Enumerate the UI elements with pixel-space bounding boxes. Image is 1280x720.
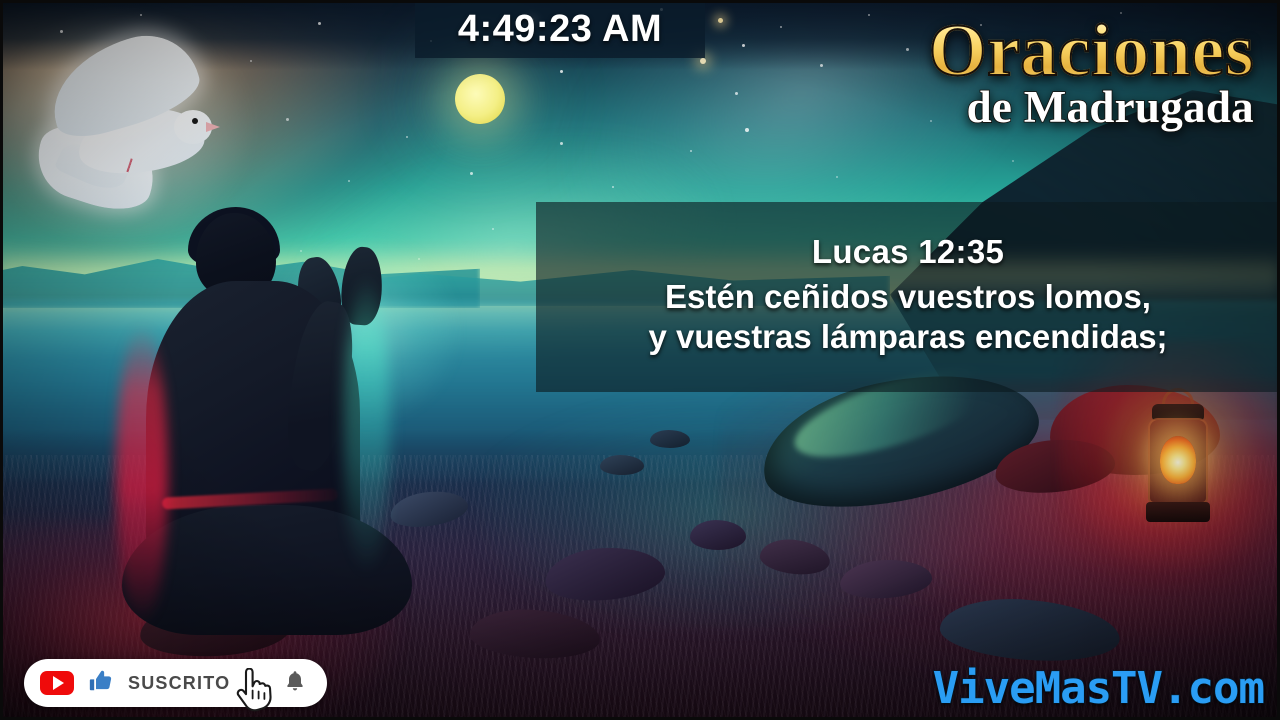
scripture-line-1: Estén ceñidos vuestros lomos, [665, 277, 1151, 317]
bell-icon[interactable] [283, 669, 307, 698]
boulder-tiny-b [600, 455, 644, 475]
lantern-icon [1128, 398, 1228, 538]
clock-time: 4:49:23 AM [458, 8, 662, 51]
moon-icon [455, 74, 505, 124]
boulder-small-b [690, 520, 746, 550]
thumbs-up-icon[interactable] [88, 668, 114, 699]
figure-teal-rimlight [344, 275, 390, 575]
channel-subtitle: de Madrugada [929, 81, 1254, 133]
video-frame: 4:49:23 AM Oraciones de Madrugada Lucas … [0, 0, 1280, 720]
boulder-tiny-a [650, 430, 690, 448]
hand-pointer-cursor [232, 668, 276, 716]
scripture-reference: Lucas 12:35 [812, 233, 1004, 271]
dove-beak [206, 122, 220, 132]
figure-red-rimlight [116, 325, 168, 625]
scripture-line-2: y vuestras lámparas encendidas; [648, 317, 1167, 357]
praying-figure-silhouette [120, 205, 440, 625]
subscribe-bar[interactable]: SUSCRITO [24, 659, 327, 707]
clock-overlay: 4:49:23 AM [415, 0, 705, 58]
youtube-play-icon[interactable] [40, 671, 74, 695]
lantern-base [1146, 502, 1210, 522]
lantern-flame [1160, 436, 1196, 484]
channel-title-block: Oraciones de Madrugada [929, 16, 1254, 133]
channel-title: Oraciones [929, 16, 1254, 87]
dove-icon [16, 36, 226, 216]
dove-eye [192, 118, 198, 124]
site-watermark: ViveMasTV.com [933, 663, 1264, 714]
play-triangle-icon [53, 676, 64, 690]
scripture-overlay: Lucas 12:35 Estén ceñidos vuestros lomos… [536, 202, 1280, 392]
